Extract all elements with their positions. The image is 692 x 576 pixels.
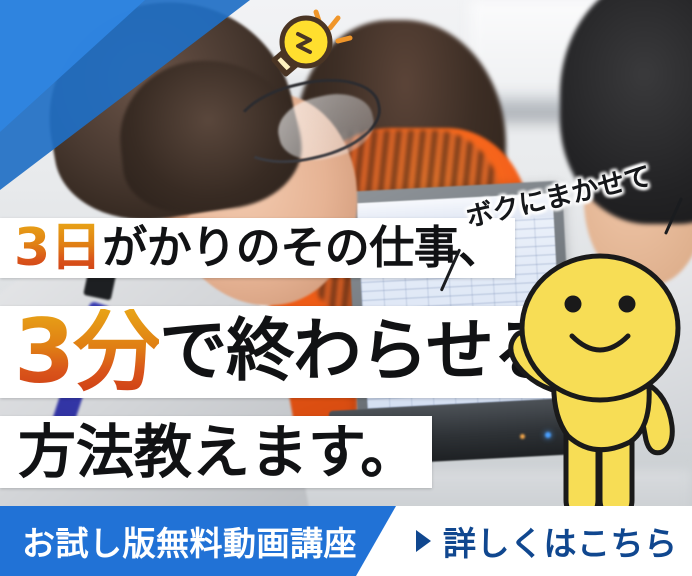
ad-banner: 3日 がかりのその仕事、 3分 で終わらせる 方法教えます。 ボクにまかせて [0,0,692,576]
headline-band-2: 3分 で終わらせる [0,306,572,398]
cta-link-label: 詳しくはこちら [443,517,678,565]
headline-3-text: 方法教えます。 [18,420,418,484]
headline-1-number: 3日 [14,222,102,274]
cta-link[interactable]: 詳しくはこちら [416,506,678,576]
mascot-character [496,232,692,532]
headline-band-1: 3日 がかりのその仕事、 [0,218,515,278]
headline-band-3: 方法教えます。 [0,416,432,488]
cta-bar: お試し版無料動画講座 詳しくはこちら [0,506,692,576]
play-triangle-icon [416,530,431,552]
lightbulb-icon [258,4,362,82]
cta-badge-label: お試し版無料動画講座 [22,506,357,576]
headline-1-rest: がかりのその仕事、 [102,223,503,273]
headline-2-number: 3分 [14,309,159,395]
